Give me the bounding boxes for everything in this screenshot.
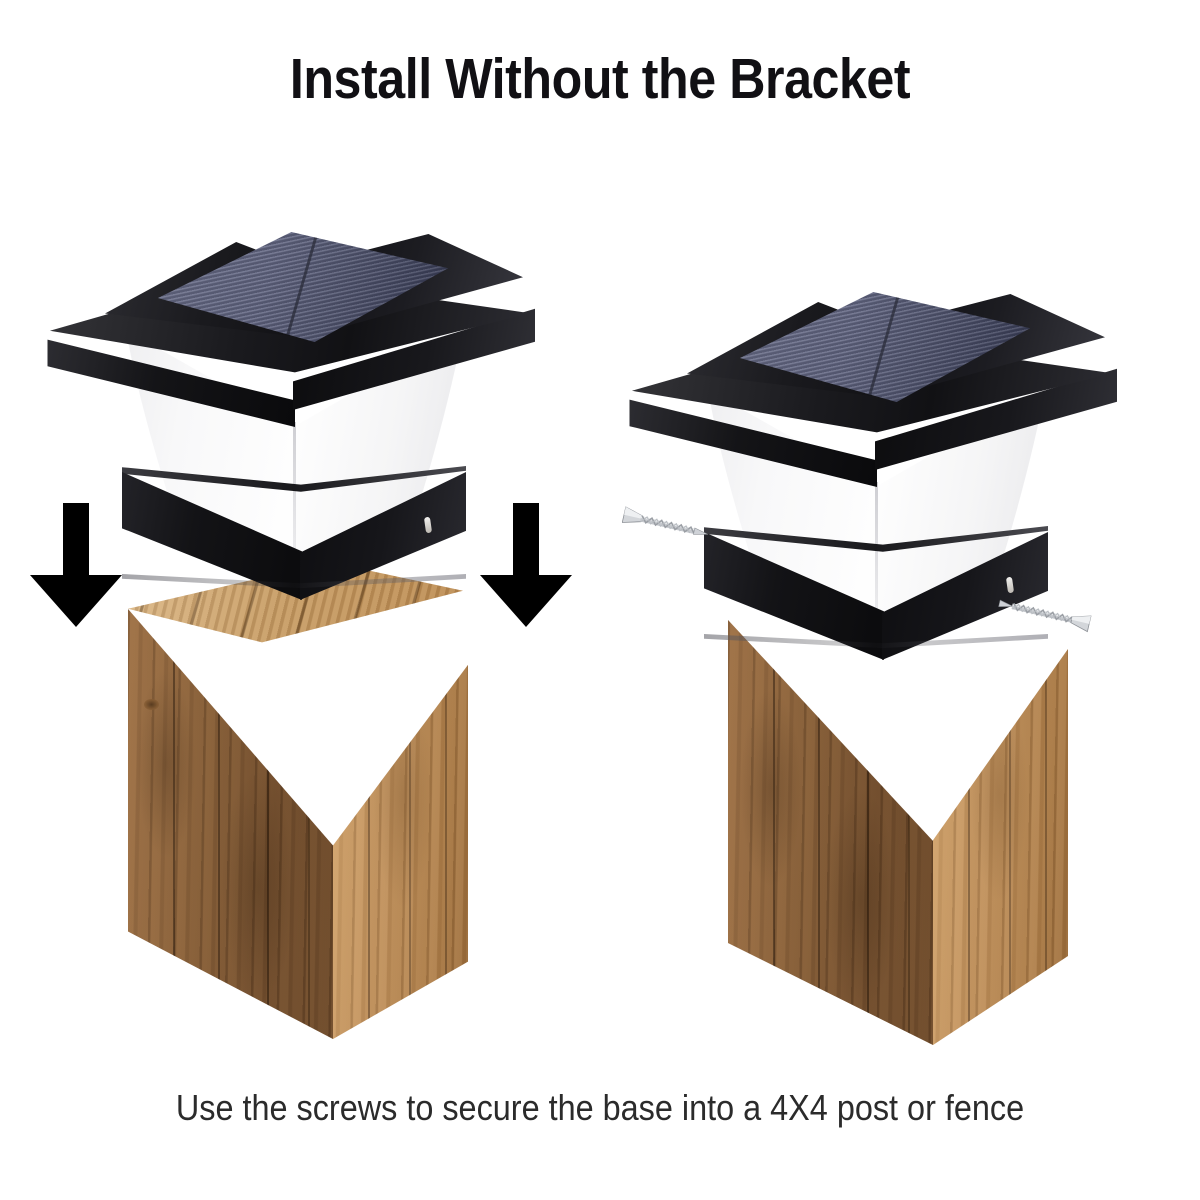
black-cap bbox=[627, 292, 1117, 522]
screw-left bbox=[622, 500, 732, 550]
screw-right bbox=[998, 588, 1128, 644]
install-step-secure bbox=[600, 0, 1200, 1200]
black-base-collar bbox=[122, 466, 466, 606]
instruction-caption: Use the screws to secure the base into a… bbox=[60, 1087, 1140, 1129]
instruction-image: Install Without the Bracket bbox=[0, 0, 1200, 1200]
black-cap bbox=[45, 232, 535, 462]
black-base-collar bbox=[704, 526, 1048, 666]
install-step-align bbox=[0, 0, 600, 1200]
down-arrow-left bbox=[30, 503, 122, 627]
down-arrow-right bbox=[480, 503, 572, 627]
